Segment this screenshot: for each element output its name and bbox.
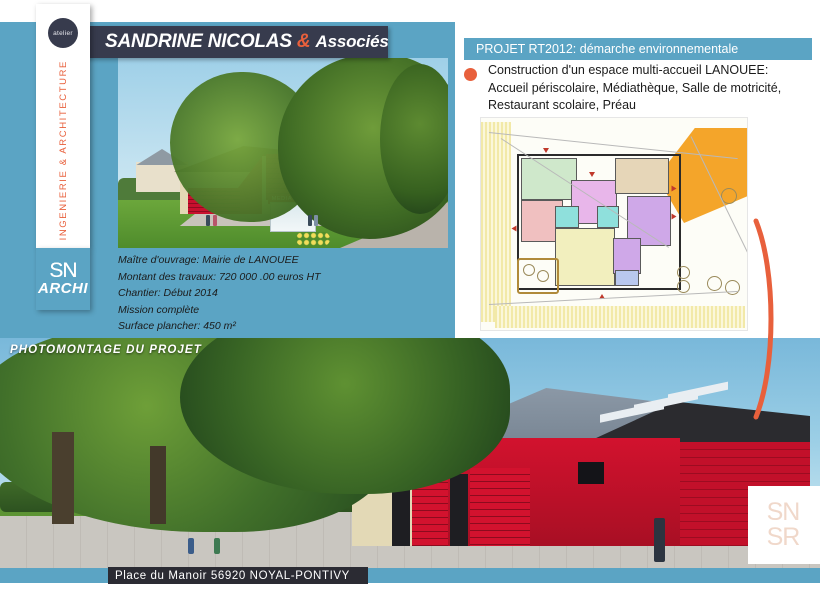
plan-direction-marker [672,186,677,192]
vertical-tagline-text: INGENIERIE & ARCHITECTURE [58,60,69,240]
description-line-1: Construction d'un espace multi-accueil L… [488,62,812,80]
plan-tree-symbol [725,280,740,295]
plan-room-blue [615,270,639,286]
plan-tree-symbol [677,280,690,293]
photo-tree-trunk [52,432,74,524]
plan-direction-marker [672,214,677,220]
address-text: Place du Manoir 56920 NOYAL-PONTIVY [115,570,350,582]
photo-person-child [214,538,220,554]
plan-hatch-bottom [495,306,745,328]
plan-room-teal-right [597,206,619,228]
sn-sr-watermark: SN SR [754,494,812,556]
plan-direction-marker [543,148,549,153]
bottom-white-margin [0,583,820,594]
title-main: SANDRINE NICOLAS [105,31,292,52]
photo-red-slats [470,468,530,546]
description-line-3: Restaurant scolaire, Préau [488,97,812,115]
right-panel-body: Construction d'un espace multi-accueil L… [464,62,812,115]
render-figure [314,215,318,226]
detail-mission: Mission complète [118,302,454,319]
arc-icon [752,215,778,423]
title-sub: Associés [316,32,389,51]
title-ampersand: & [297,31,311,52]
plan-direction-marker [589,172,595,177]
photomontage-image [0,338,820,568]
plan-tree-symbol [523,264,535,276]
slide-title-bar: SANDRINE NICOLAS & Associés [83,26,388,58]
vertical-tagline: INGENIERIE & ARCHITECTURE [53,60,73,240]
photomontage-caption: PHOTOMONTAGE DU PROJET [10,344,202,356]
plan-tree-symbol [677,266,690,279]
agency-logo-card: atelier INGENIERIE & ARCHITECTURE [36,4,90,248]
detail-maitre-ouvrage: Maître d'ouvrage: Mairie de LANOUEE [118,252,454,269]
render-figure [206,215,210,226]
watermark-line1: SN [767,500,800,525]
plan-tree-symbol [707,276,722,291]
atelier-badge-icon: atelier [48,18,78,48]
project-render-image: MEDIATHEQUE [118,58,448,248]
photo-entrance-door [450,474,468,546]
detail-surface-plancher: Surface plancher: 450 m² [118,318,454,335]
bullet-dot-icon [464,68,477,81]
sn-archi-logo-line1: SN [49,262,76,280]
plan-room-hall [555,228,615,286]
project-details-list: Maître d'ouvrage: Mairie de LANOUEE Mont… [118,252,454,335]
plan-direction-marker [512,226,517,232]
render-figure [213,215,217,226]
description-line-2: Accueil périscolaire, Médiathèque, Salle… [488,80,812,98]
photo-person-walking [654,518,665,562]
plan-hatch-left [481,122,511,322]
page-title: SANDRINE NICOLAS & Associés [105,31,389,53]
right-panel-header: PROJET RT2012: démarche environnementale [464,38,812,60]
top-white-margin [0,0,820,22]
plan-tree-symbol [537,270,549,282]
plan-room-purple-low [613,238,641,274]
plan-room-tan [615,158,669,194]
right-panel-header-text: PROJET RT2012: démarche environnementale [476,42,738,56]
photo-person-child [188,538,194,554]
render-flower-bed [296,232,330,246]
photo-tree-trunk [150,446,166,524]
photo-window [578,462,604,484]
detail-montant-travaux: Montant des travaux: 720 000 .00 euros H… [118,269,454,286]
plan-room-teal-left [555,206,579,228]
floor-plan-image [480,117,748,331]
render-figure [308,215,312,226]
orange-arc-decoration [752,215,778,423]
right-panel-description: Construction d'un espace multi-accueil L… [488,62,812,115]
sn-archi-logo: SN ARCHI [36,248,90,310]
watermark-line2: SR [767,525,800,550]
detail-chantier: Chantier: Début 2014 [118,285,454,302]
plan-room-green [521,158,577,200]
address-bar: Place du Manoir 56920 NOYAL-PONTIVY [108,567,368,584]
presentation-slide: atelier INGENIERIE & ARCHITECTURE SN ARC… [0,0,820,594]
sn-archi-logo-line2: ARCHI [38,281,88,296]
